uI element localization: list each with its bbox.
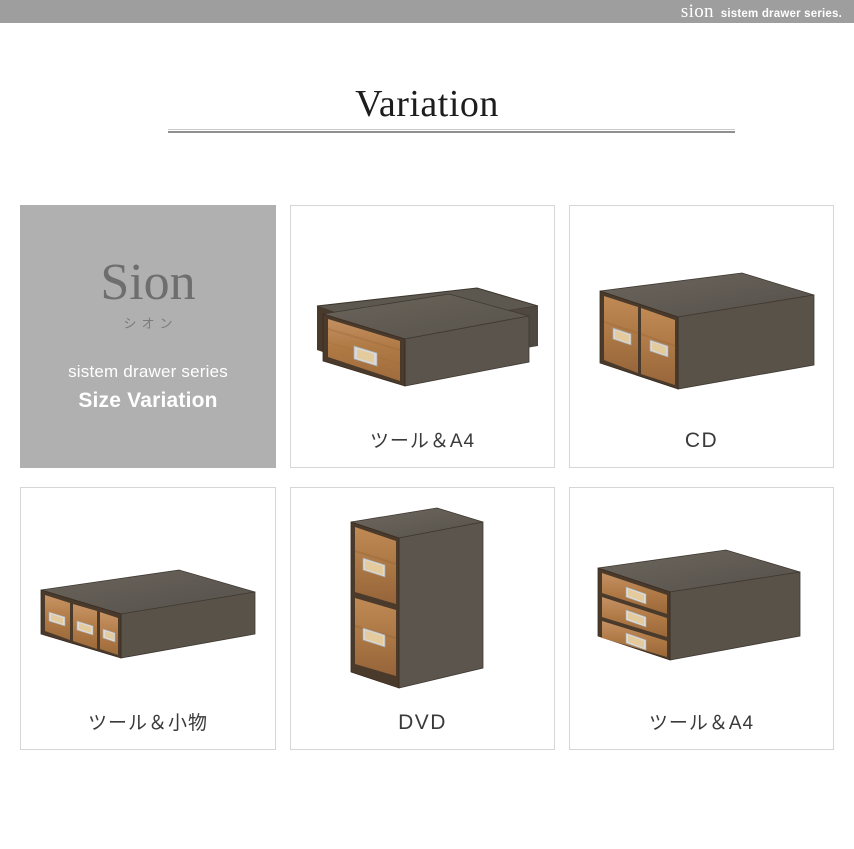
product-photo bbox=[570, 206, 833, 421]
drawer-unit-cd bbox=[582, 261, 827, 411]
product-card-cd[interactable]: CD bbox=[569, 205, 834, 468]
brand-tagline: sistem drawer series. bbox=[721, 8, 842, 20]
variation-grid: Sion シオン sistem drawer series Size Varia… bbox=[20, 205, 835, 750]
hero-logo: Sion bbox=[100, 257, 195, 309]
product-card-tool-a4-single[interactable]: ツール＆A4 bbox=[290, 205, 555, 468]
drawer-unit-three-across bbox=[29, 550, 269, 690]
product-photo bbox=[570, 488, 833, 703]
product-card-dvd[interactable]: DVD bbox=[290, 487, 555, 750]
header-brand-group: sion sistem drawer series. bbox=[681, 2, 854, 21]
brand-logo: sion bbox=[681, 2, 714, 21]
product-photo bbox=[21, 488, 275, 703]
product-photo bbox=[291, 488, 554, 703]
hero-kana: シオン bbox=[123, 313, 177, 332]
title-divider bbox=[168, 129, 735, 133]
header-bar: sion sistem drawer series. bbox=[0, 0, 854, 23]
product-caption: ツール＆A4 bbox=[291, 426, 554, 453]
product-card-tool-komono[interactable]: ツール＆小物 bbox=[20, 487, 276, 750]
product-caption: ツール＆A4 bbox=[570, 708, 833, 735]
page-title: Variation bbox=[0, 82, 854, 126]
drawer-unit-three-stacked bbox=[584, 540, 824, 695]
product-caption: ツール＆小物 bbox=[21, 708, 275, 735]
hero-panel: Sion シオン sistem drawer series Size Varia… bbox=[20, 205, 276, 468]
hero-series-label: sistem drawer series bbox=[68, 362, 228, 382]
hero-subtitle: Size Variation bbox=[78, 389, 217, 413]
product-caption: CD bbox=[570, 429, 833, 453]
drawer-unit-detail bbox=[301, 276, 546, 411]
product-card-tool-a4-triple[interactable]: ツール＆A4 bbox=[569, 487, 834, 750]
product-photo bbox=[291, 206, 554, 421]
product-caption: DVD bbox=[291, 711, 554, 735]
drawer-unit-dvd bbox=[341, 500, 521, 705]
